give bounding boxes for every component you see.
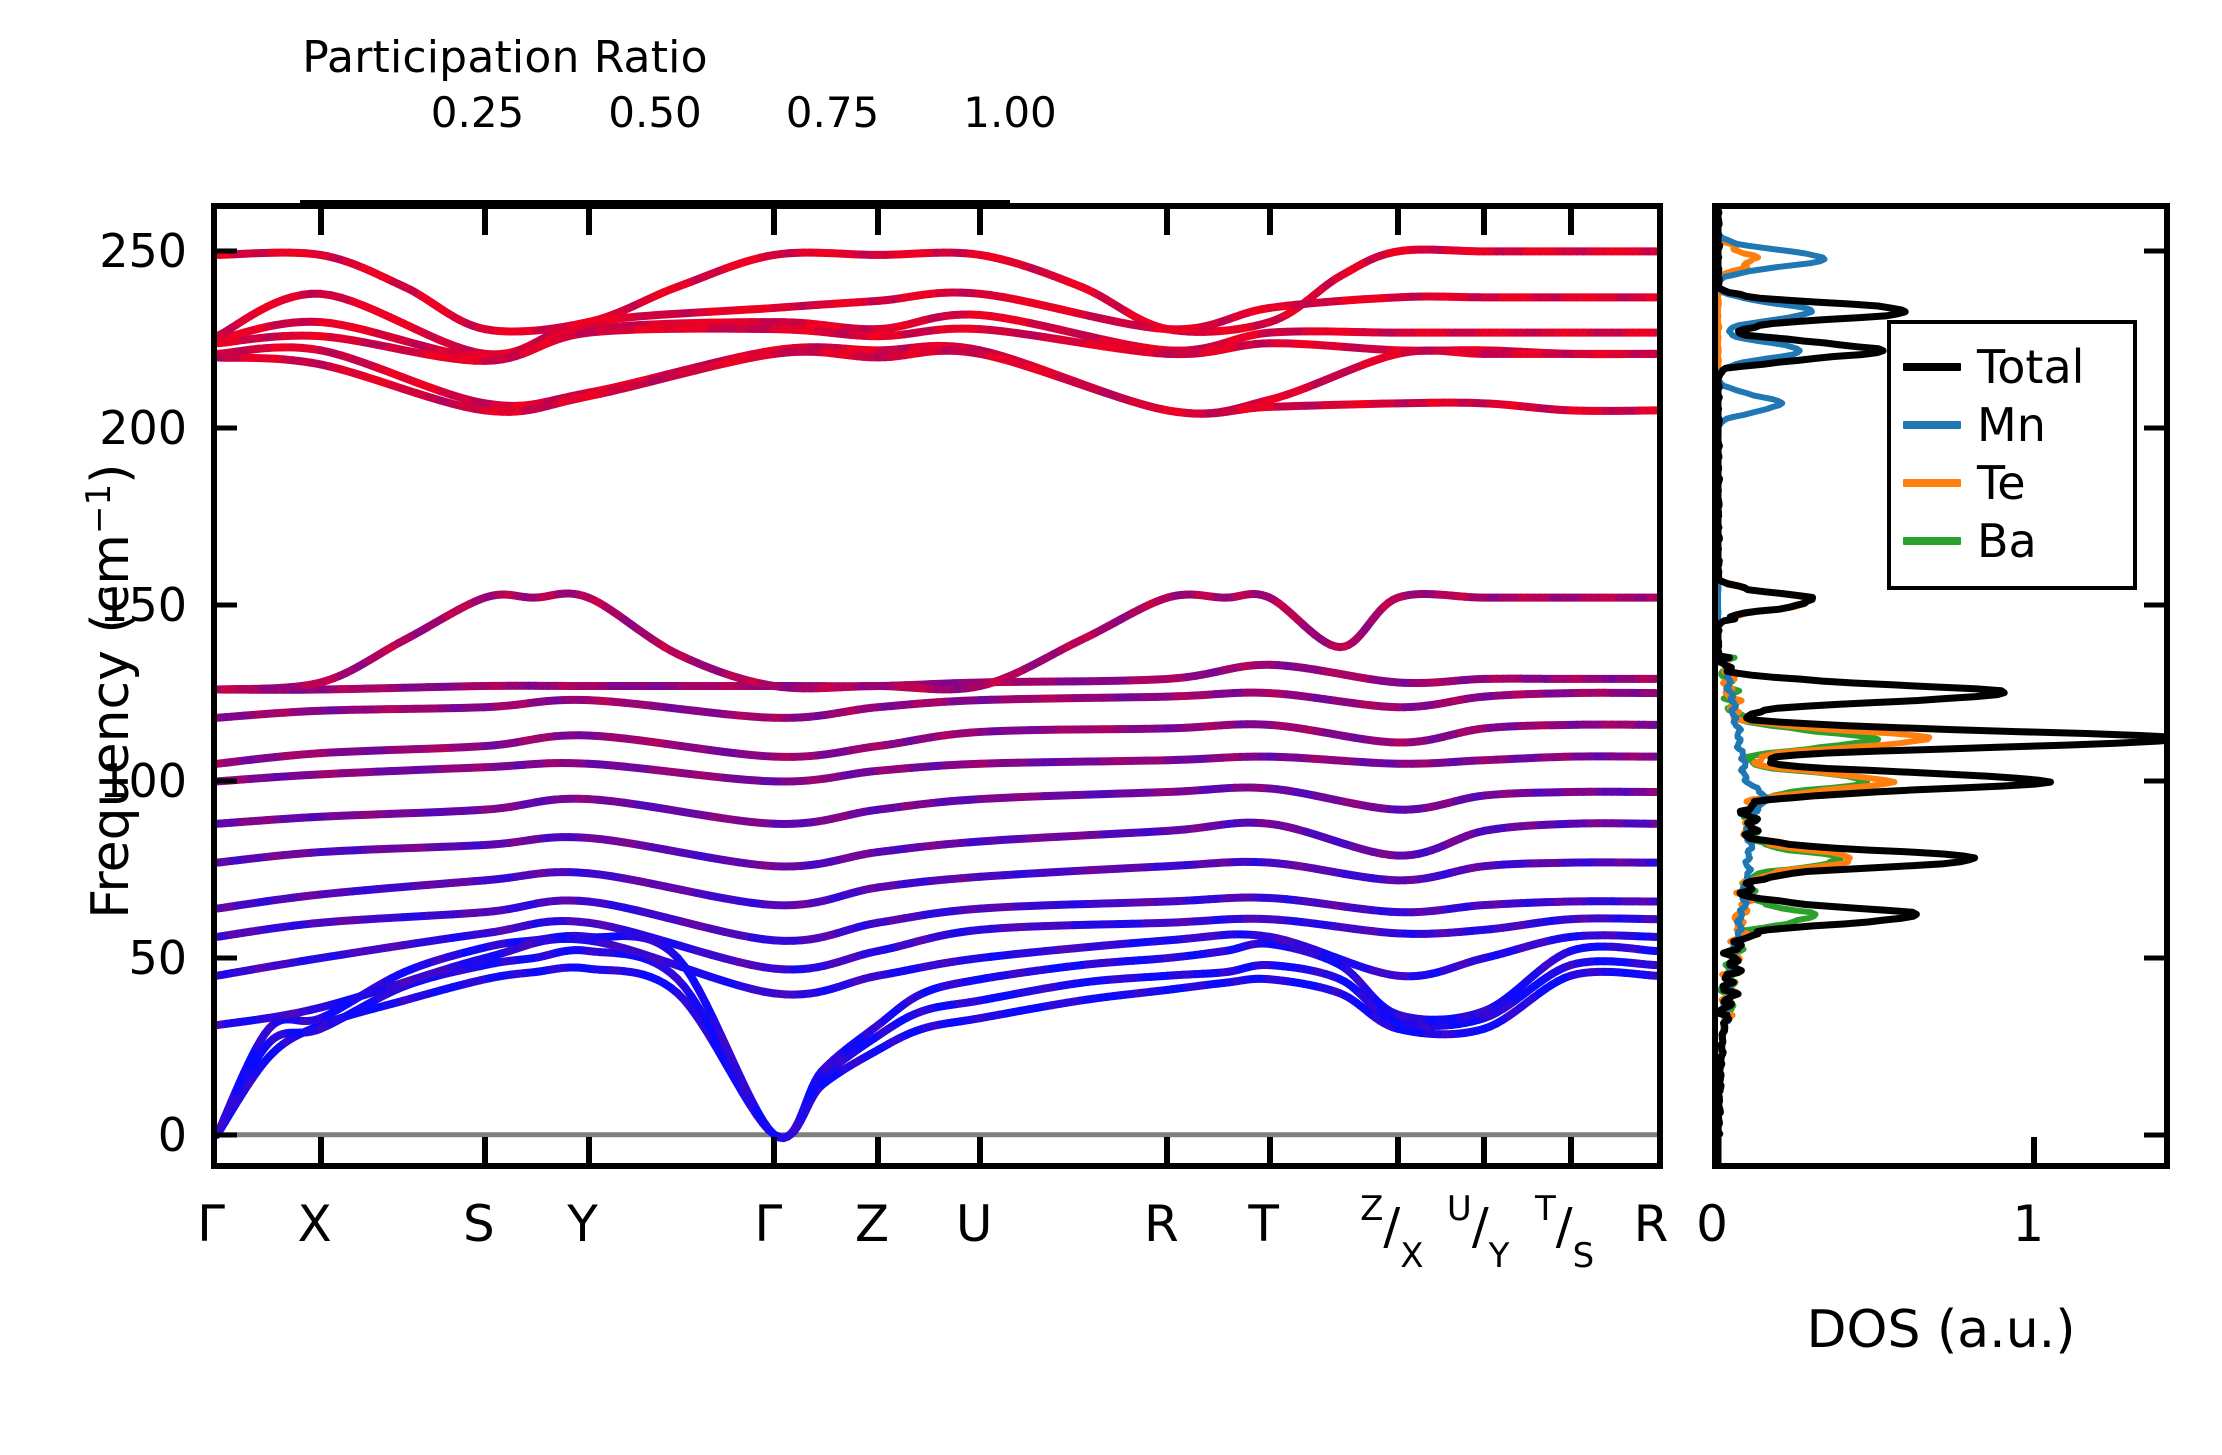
band-x-tick-mark [1568,1137,1574,1163]
colorbar-title: Participation Ratio [0,32,1010,83]
y-tick-label: 50 [128,931,187,985]
phonon-band [217,724,1657,764]
band-x-tick-mark [1481,1137,1487,1163]
legend-color-swatch [1903,537,1961,545]
legend-color-swatch [1903,479,1961,487]
band-x-tick-mark [875,209,881,235]
band-x-tick-mark [977,209,983,235]
band-x-tick-mark [771,209,777,235]
y-axis-title-exponent: −1 [79,484,119,534]
band-x-tick-label: Y [567,1195,598,1253]
phonon-band [217,593,1657,689]
colorbar-tick-label: 0.50 [608,88,702,137]
y-tick-mark [217,249,237,254]
band-x-tick-mark [1164,209,1170,235]
legend-label: Ba [1977,518,2037,564]
colorbar-tick-label: 0.75 [786,88,880,137]
band-structure-plot: 050100150200250 [211,203,1663,1169]
y-tick-mark [217,779,237,784]
phonon-band [217,823,1657,867]
band-x-tick-label: R [1634,1195,1669,1253]
band-x-tick-mark [586,1137,592,1163]
dos-x-tick-label: 0 [1696,1195,1728,1253]
y-tick-label: 0 [158,1108,187,1162]
band-x-tick-label: X [298,1195,332,1253]
y-tick-mark [217,956,237,961]
band-x-tick-mark [1395,1137,1401,1163]
dos-legend: TotalMnTeBa [1887,320,2137,590]
dos-y-tick-mark [2144,1132,2164,1137]
colorbar-tick-label: 1.00 [963,88,1057,137]
band-x-tick-mark [1568,209,1574,235]
band-x-tick-mark [771,1137,777,1163]
phonon-band [217,351,1657,414]
y-tick-label: 250 [99,224,187,278]
band-x-tick-mark [482,209,488,235]
legend-color-swatch [1903,363,1961,371]
y-axis-title-tail: ) [81,464,141,484]
legend-label: Total [1977,344,2084,390]
band-x-tick-mark [586,209,592,235]
band-x-tick-mark [318,209,324,235]
band-x-tick-mark [977,1137,983,1163]
legend-item-total: Total [1903,338,2121,396]
colorbar-tick-label: 0.25 [431,88,525,137]
band-x-tick-mark [318,1137,324,1163]
legend-label: Te [1977,460,2026,506]
colorbar-tick-labels: 0.250.500.751.00 [300,88,1010,138]
figure-canvas: Participation Ratio 0.250.500.751.00 Fre… [0,0,2222,1455]
y-tick-mark [217,602,237,607]
band-x-tick-mark [1164,1137,1170,1163]
band-x-tick-label: T/S [1535,1195,1594,1264]
legend-item-te: Te [1903,454,2121,512]
dos-y-tick-mark [2144,602,2164,607]
phonon-band [217,788,1657,824]
dos-y-tick-mark [2144,956,2164,961]
band-x-tick-label: Γ [754,1195,782,1253]
y-tick-label: 200 [99,401,187,455]
band-x-tick-mark [1267,209,1273,235]
band-x-tick-label: Z [855,1195,889,1253]
y-tick-label: 100 [99,754,187,808]
band-x-tick-label: Γ [197,1195,225,1253]
y-tick-label: 150 [99,578,187,632]
phonon-band [217,756,1657,781]
phonon-band [217,967,1657,1137]
band-x-tick-mark [1481,209,1487,235]
phonon-band [217,693,1657,718]
dos-x-axis-title: DOS (a.u.) [1712,1300,2170,1360]
dos-y-tick-mark [2144,779,2164,784]
band-x-tick-mark [1267,1137,1273,1163]
dos-x-tick-labels: 01 [1712,1185,2170,1265]
dos-x-tick-mark [2031,1137,2037,1163]
band-x-tick-label: Z/X [1360,1195,1423,1264]
legend-item-mn: Mn [1903,396,2121,454]
band-x-tick-labels: ΓXSYΓZURTZ/XU/YT/SR [211,1185,1663,1305]
band-x-tick-mark [1395,209,1401,235]
dos-x-tick-label: 1 [2012,1195,2044,1253]
band-x-tick-label: U/Y [1447,1195,1510,1264]
legend-item-ba: Ba [1903,512,2121,570]
band-x-tick-mark [875,1137,881,1163]
band-x-tick-mark [482,1137,488,1163]
phonon-band [217,862,1657,909]
phonon-band [217,950,1657,1138]
dos-x-tick-mark [1715,1137,1721,1163]
band-x-tick-label: S [463,1195,495,1253]
y-tick-mark [217,1132,237,1137]
legend-color-swatch [1903,421,1961,429]
band-x-tick-label: T [1248,1195,1279,1253]
band-x-tick-label: R [1144,1195,1179,1253]
y-tick-mark [217,426,237,431]
band-structure-curves [217,209,1657,1163]
legend-label: Mn [1977,402,2046,448]
dos-y-tick-mark [2144,249,2164,254]
dos-y-tick-mark [2144,426,2164,431]
band-x-tick-label: U [956,1195,993,1253]
